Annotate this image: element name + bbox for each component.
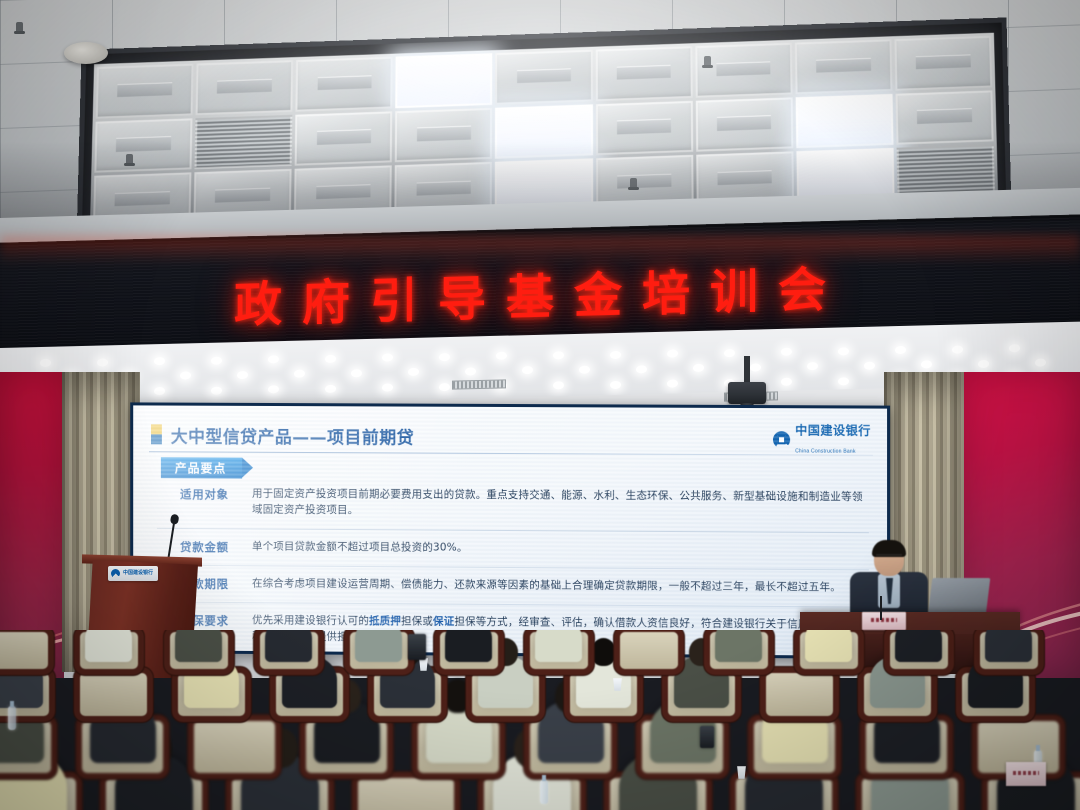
ceiling-downlight-icon [211,356,222,364]
presentation-slide: 大中型信贷产品——项目前期贷 中国建设银行 China Construction… [133,405,887,656]
audience-attendee [445,630,492,662]
audience-attendee [265,630,312,662]
podium-logo-badge: 中国建设银行 [108,566,158,581]
air-vent-icon [452,379,506,389]
ceiling-downlight-icon [864,361,875,369]
slide-header: 大中型信贷产品——项目前期贷 [151,419,873,452]
ceiling-downlight-icon [667,349,678,357]
row-label: 适用对象 [157,485,252,502]
ceiling-downlight-icon [921,360,932,368]
audience-attendee [985,630,1032,662]
ceiling-downlight-icon [807,362,818,370]
ccb-logo-text-cn: 中国建设银行 [795,423,871,437]
ceiling-downlight-icon [180,371,191,379]
projector-mount [744,356,750,384]
conference-chair [194,721,275,773]
ccb-logo: 中国建设银行 China Construction Bank [773,421,871,458]
row-body: 在综合考虑项目建设运营周期、偿债能力、还款来源等因素的基础上合理确定贷款期限，一… [252,575,869,596]
podium-badge-text: 中国建设银行 [123,571,153,577]
ceiling-downlight-icon [781,378,792,386]
ceiling-downlight-icon [154,387,165,395]
ccb-logo-text: 中国建设银行 China Construction Bank [795,421,871,458]
ceiling-downlight-icon [465,367,476,375]
ceiling-downlight-icon [610,350,621,358]
ceiling-downlight-icon [952,345,963,353]
ceiling-downlight-icon [1009,344,1020,352]
ceiling-downlight-icon [382,354,393,362]
row-body-mid: 担保或 [401,615,433,627]
audience-attendee [715,630,762,662]
slide-bullet-mark-icon [151,424,162,444]
raised-smartphone [408,634,426,660]
ceiling-downlight-icon [351,369,362,377]
conference-chair [80,673,147,716]
ceiling-downlight-icon [838,347,849,355]
table-row: 贷款期限 在综合考虑项目建设运营周期、偿债能力、还款来源等因素的基础上合理确定贷… [157,574,869,596]
ceiling-downlight-icon [724,349,735,357]
audience-attendee-head [591,638,616,666]
water-bottle [8,706,16,730]
ceiling-downlight-icon [579,366,590,374]
table-row: 适用对象 用于固定资产投资项目前期必要费用支出的贷款。重点支持交通、能源、水利、… [157,485,869,522]
projector-icon [728,382,766,404]
ceiling-downlight-icon [268,385,279,393]
ceiling-downlight-icon [895,346,906,354]
laptop [928,578,991,616]
speaker-glasses-icon [876,554,902,560]
speaker-nameplate [862,612,906,630]
ceiling-downlight-icon [693,364,704,372]
ceiling-downlight-icon [237,371,248,379]
ceiling-downlight-icon [439,353,450,361]
row-divider [157,564,869,570]
audience-attendee [355,630,402,662]
row-body-highlight-2: 保证 [433,615,454,627]
conference-chair [620,632,678,669]
ceiling-downlight-icon [97,358,108,366]
ceiling-downlight-icon [522,366,533,374]
audience-attendee [175,630,222,662]
conference-chair [766,673,833,716]
smartphone [700,726,714,748]
audience-seating [0,630,1080,810]
water-bottle [540,780,548,804]
audience-attendee [85,630,132,662]
ceiling-downlight-icon [382,384,393,392]
ceiling-downlight-icon [325,385,336,393]
ceiling-downlight-icon [40,359,51,367]
audience-attendee [895,630,942,662]
ceiling-downlight-icon [408,368,419,376]
ceiling-downlight-icon [154,357,165,365]
row-divider [157,527,869,532]
audience-attendee [805,630,852,662]
ceiling-downlight-icon [553,351,564,359]
ceiling-downlight-icon [1035,359,1046,367]
audience-attendee-head [443,679,473,713]
ccb-logo-mark-icon [773,431,790,448]
row-divider [157,601,869,607]
projection-screen: 大中型信贷产品——项目前期贷 中国建设银行 China Construction… [130,402,890,659]
conference-chair [358,778,454,810]
ceiling-downlight-icon [268,355,279,363]
attendee-nameplate [1006,762,1046,786]
ceiling-downlight-icon [496,352,507,360]
ceiling-downlight-icon [636,365,647,373]
ceiling-downlight-icon [667,379,678,387]
ceiling-downlight-icon [838,377,849,385]
ccb-logo-mark-icon [111,569,120,578]
conference-chair [0,632,48,669]
row-body: 用于固定资产投资项目前期必要费用支出的贷款。重点支持交通、能源、水利、生态环保、… [252,486,869,522]
ceiling-downlight-icon [439,383,450,391]
row-body-highlight-1: 抵质押 [369,615,401,627]
conference-room-photo: 政府引导基金培训会 大中型信贷产品——项目前期贷 [0,0,1080,810]
slide-section-tag: 产品要点 [161,457,242,478]
ceiling-downlight-icon [978,360,989,368]
ceiling-downlight-icon [781,348,792,356]
ceiling-downlight-icon [325,355,336,363]
ceiling-downlight-icon [610,380,621,388]
table-microphone-icon [880,596,882,620]
ceiling-downlight-icon [553,381,564,389]
ceiling-downlight-icon [750,363,761,371]
table-row: 贷款金额 单个项目贷款金额不超过项目总投资的30%。 [157,537,869,559]
row-body-pre: 优先采用建设银行认可的 [252,614,369,627]
slide-title: 大中型信贷产品——项目前期贷 [171,422,414,448]
ceiling-downlight-icon [294,370,305,378]
audience-attendee [535,630,582,662]
ceiling-downlight-icon [211,386,222,394]
row-body: 单个项目贷款金额不超过项目总投资的30%。 [252,538,869,558]
